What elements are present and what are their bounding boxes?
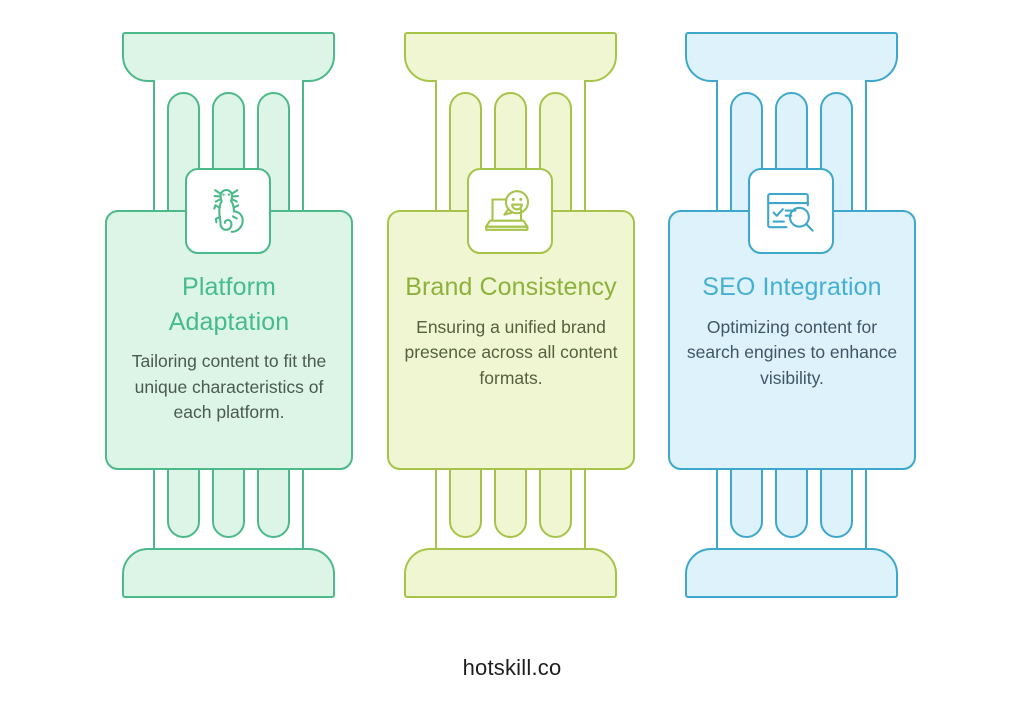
pillar-capital xyxy=(685,32,898,82)
pillar-base xyxy=(404,548,617,598)
pillar-capital xyxy=(404,32,617,82)
laptop-chat-smiley-icon xyxy=(467,168,553,254)
pillar-base xyxy=(122,548,335,598)
footer-brand: hotskill.co xyxy=(0,655,1024,681)
pillar-brand-consistency: Brand Consistency Ensuring a unified bra… xyxy=(360,30,660,600)
pillar-platform-adaptation: Platform Adaptation Tailoring content to… xyxy=(78,30,378,600)
card-description: Tailoring content to fit the unique char… xyxy=(121,349,337,426)
card-description: Ensuring a unified brand presence across… xyxy=(403,315,619,392)
pillar-base xyxy=(685,548,898,598)
browser-search-check-icon xyxy=(748,168,834,254)
pillar-capital xyxy=(122,32,335,82)
card-title: Brand Consistency xyxy=(403,270,619,305)
lizard-icon xyxy=(185,168,271,254)
card-title: Platform Adaptation xyxy=(121,270,337,339)
card-description: Optimizing content for search engines to… xyxy=(684,315,900,392)
infographic-canvas: Platform Adaptation Tailoring content to… xyxy=(0,0,1024,719)
pillar-seo-integration: SEO Integration Optimizing content for s… xyxy=(641,30,941,600)
card-title: SEO Integration xyxy=(684,270,900,305)
